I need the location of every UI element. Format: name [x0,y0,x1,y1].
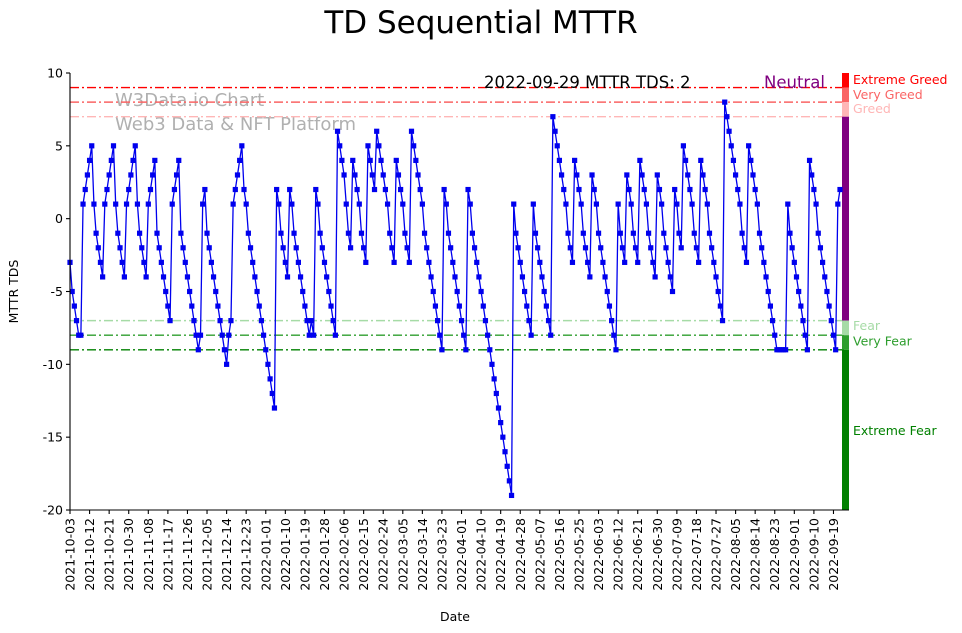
data-point [396,172,401,177]
data-point [687,187,692,192]
data-point [598,245,603,250]
data-point [694,245,699,250]
data-point [291,231,296,236]
data-point [689,202,694,207]
x-tick-label: 2022-04-28 [513,518,528,591]
data-point [585,260,590,265]
data-point [787,231,792,236]
data-point [455,289,460,294]
y-tick-label: -15 [43,430,63,445]
data-point [272,405,277,410]
data-point [794,274,799,279]
data-point [496,405,501,410]
data-point [485,333,490,338]
data-point [813,202,818,207]
zone-label-very-greed: Very Greed [853,87,923,102]
data-point [755,202,760,207]
chart-container: TD Sequential MTTR W3Data.io ChartWeb3 D… [0,0,962,633]
x-tick-label: 2022-08-05 [728,518,743,591]
data-point [270,391,275,396]
zone-bar-greed [842,102,849,117]
data-point [720,318,725,323]
x-tick-label: 2022-03-14 [415,518,430,591]
data-point [102,202,107,207]
x-tick-label: 2021-11-08 [141,518,156,591]
data-point [676,231,681,236]
data-point [566,231,571,236]
data-point [326,289,331,294]
x-tick-label: 2022-02-15 [356,518,371,591]
data-point [187,289,192,294]
data-point [80,202,85,207]
data-point [165,303,170,308]
data-point [355,187,360,192]
y-tick-label: 10 [47,66,63,81]
data-point [422,231,427,236]
data-point [579,202,584,207]
data-point [244,202,249,207]
data-point [183,260,188,265]
data-point [233,187,238,192]
data-point [224,362,229,367]
data-point [616,202,621,207]
data-point [670,289,675,294]
data-point [241,187,246,192]
data-point [365,143,370,148]
data-point [400,202,405,207]
data-point [661,231,666,236]
data-point [341,172,346,177]
data-point [100,274,105,279]
data-point [746,143,751,148]
data-point [465,187,470,192]
data-point [535,245,540,250]
data-point [413,158,418,163]
data-point [154,231,159,236]
data-point [181,245,186,250]
data-point [483,318,488,323]
data-point [281,245,286,250]
data-point [207,245,212,250]
data-point [790,245,795,250]
x-tick-label: 2022-04-19 [493,518,508,591]
data-point [602,274,607,279]
data-point [568,245,573,250]
data-point [620,245,625,250]
data-point [563,202,568,207]
data-point [829,318,834,323]
data-point [542,289,547,294]
data-point [378,158,383,163]
data-point [461,333,466,338]
data-point [798,303,803,308]
data-point [526,318,531,323]
data-point [546,318,551,323]
data-point [816,231,821,236]
data-point [235,172,240,177]
data-point [707,231,712,236]
data-point [141,260,146,265]
data-point [644,202,649,207]
data-point [263,347,268,352]
data-point [161,274,166,279]
data-point [246,231,251,236]
data-point [520,274,525,279]
data-point [818,245,823,250]
data-point [383,187,388,192]
data-point [89,143,94,148]
data-point [827,303,832,308]
data-point [592,187,597,192]
data-point [91,202,96,207]
y-axis-title: MTTR TDS [6,260,21,324]
data-point [137,231,142,236]
data-point [807,158,812,163]
data-point [361,245,366,250]
data-point [820,260,825,265]
x-tick-label: 2022-07-09 [669,518,684,591]
data-point [494,391,499,396]
data-point [463,347,468,352]
data-point [115,231,120,236]
data-point [220,333,225,338]
data-point [703,187,708,192]
x-tick-label: 2022-09-19 [826,518,841,591]
data-point [550,114,555,119]
data-point [600,260,605,265]
data-point [387,231,392,236]
data-point [189,303,194,308]
data-point [285,274,290,279]
data-point [372,187,377,192]
data-point [174,172,179,177]
data-point [548,333,553,338]
x-tick-label: 2022-02-24 [376,518,391,591]
y-tick-label: -10 [43,357,63,372]
data-point [252,274,257,279]
x-tick-label: 2022-03-23 [434,518,449,591]
data-point [300,289,305,294]
data-point [402,231,407,236]
data-point [646,231,651,236]
data-point [104,187,109,192]
data-point [222,347,227,352]
data-point [87,158,92,163]
data-point [552,129,557,134]
data-point [626,187,631,192]
data-point [570,260,575,265]
data-point [502,449,507,454]
x-tick-label: 2021-12-14 [219,518,234,591]
data-point [796,289,801,294]
data-point [407,260,412,265]
x-tick-label: 2022-05-07 [532,518,547,591]
data-point [507,478,512,483]
data-point [498,420,503,425]
data-point [533,231,538,236]
data-point [74,318,79,323]
data-point [448,245,453,250]
data-point [492,376,497,381]
data-point [122,274,127,279]
data-point [442,187,447,192]
data-point [130,158,135,163]
data-point [472,245,477,250]
data-point [111,143,116,148]
data-point [716,289,721,294]
data-point [666,260,671,265]
data-point [344,202,349,207]
data-point [611,333,616,338]
data-point [742,245,747,250]
data-point [561,187,566,192]
data-point [479,289,484,294]
x-tick-label: 2022-07-27 [709,518,724,591]
data-point [107,172,112,177]
data-point [78,333,83,338]
data-point [368,158,373,163]
data-point [663,245,668,250]
data-series-line [70,102,840,495]
data-point [607,303,612,308]
zone-label-extreme-greed: Extreme Greed [853,72,947,87]
data-point [339,158,344,163]
data-point [635,260,640,265]
annotation-value-text: 2022-09-29 MTTR TDS: 2 [484,73,691,92]
data-point [470,231,475,236]
data-point [170,202,175,207]
data-point [770,318,775,323]
data-point [476,274,481,279]
data-point [457,303,462,308]
data-point [254,289,259,294]
data-point [522,289,527,294]
data-point [596,231,601,236]
data-point [204,231,209,236]
data-point [740,231,745,236]
data-point [261,333,266,338]
data-point [753,187,758,192]
data-point [653,274,658,279]
x-tick-label: 2022-09-10 [806,518,821,591]
data-point [613,347,618,352]
data-point [178,231,183,236]
data-point [759,245,764,250]
data-point [363,260,368,265]
data-point [574,172,579,177]
data-point [639,172,644,177]
data-point [420,202,425,207]
data-point [529,333,534,338]
data-point [659,202,664,207]
x-tick-label: 2022-08-14 [748,518,763,591]
x-tick-label: 2021-11-26 [180,518,195,591]
data-point [748,158,753,163]
data-point [374,129,379,134]
data-point [555,143,560,148]
x-tick-label: 2022-05-25 [571,518,586,591]
data-point [505,464,510,469]
data-point [96,245,101,250]
zone-label-extreme-fear: Extreme Fear [853,423,937,438]
data-point [209,260,214,265]
zone-label-greed: Greed [853,101,891,116]
data-point [655,172,660,177]
data-point [202,187,207,192]
data-point [733,172,738,177]
data-point [459,318,464,323]
data-point [133,143,138,148]
data-point [120,260,125,265]
data-point [322,260,327,265]
data-point [763,274,768,279]
data-point [629,202,634,207]
data-point [389,245,394,250]
data-point [268,376,273,381]
data-point [298,274,303,279]
data-point [394,158,399,163]
x-tick-label: 2022-09-01 [787,518,802,591]
data-point [381,172,386,177]
data-point [500,435,505,440]
data-point [405,245,410,250]
data-point [335,129,340,134]
data-point [320,245,325,250]
data-point [622,260,627,265]
data-point [824,289,829,294]
data-point [650,260,655,265]
data-point [113,202,118,207]
data-point [511,202,516,207]
data-point [631,231,636,236]
data-point [674,202,679,207]
data-point [72,303,77,308]
x-tick-label: 2021-10-03 [63,518,78,591]
data-point [594,202,599,207]
data-point [283,260,288,265]
x-tick-label: 2021-12-23 [239,518,254,591]
data-point [328,303,333,308]
data-point [489,362,494,367]
data-series-markers [67,100,842,499]
data-point [159,260,164,265]
data-point [318,231,323,236]
data-point [426,260,431,265]
data-point [139,245,144,250]
data-point [228,318,233,323]
data-point [811,187,816,192]
data-point [315,202,320,207]
data-point [757,231,762,236]
data-point [718,303,723,308]
data-point [692,231,697,236]
x-axis-title: Date [440,609,470,624]
data-point [439,347,444,352]
y-tick-label: 5 [55,138,63,153]
data-point [729,143,734,148]
data-point [822,274,827,279]
watermark-line1: W3Data.io Chart [115,90,264,111]
data-point [370,172,375,177]
data-point [487,347,492,352]
data-point [257,303,262,308]
data-point [683,158,688,163]
data-point [711,260,716,265]
data-point [428,274,433,279]
data-point [167,318,172,323]
data-point [376,143,381,148]
zone-bar-very-fear [842,335,849,350]
data-point [418,187,423,192]
data-point [324,274,329,279]
data-point [144,274,149,279]
data-point [350,158,355,163]
data-point [357,202,362,207]
data-point [248,245,253,250]
data-point [215,303,220,308]
data-point [737,202,742,207]
x-tick-label: 2021-10-30 [121,518,136,591]
data-point [198,333,203,338]
data-point [200,202,205,207]
data-point [783,347,788,352]
data-point [148,187,153,192]
data-point [735,187,740,192]
data-point [176,158,181,163]
x-tick-label: 2021-10-12 [82,518,97,591]
data-point [452,274,457,279]
data-point [311,333,316,338]
data-point [346,231,351,236]
x-tick-label: 2022-02-06 [337,518,352,591]
data-point [731,158,736,163]
chart-plot-area[interactable]: W3Data.io ChartWeb3 Data & NFT PlatformE… [0,0,962,633]
zone-bar-neutral [842,117,849,321]
data-point [583,245,588,250]
zone-bar-very-greed [842,88,849,103]
data-point [446,231,451,236]
data-point [302,303,307,308]
data-point [589,172,594,177]
data-point [296,260,301,265]
data-point [309,318,314,323]
data-point [513,231,518,236]
data-point [837,187,842,192]
data-point [333,333,338,338]
data-point [163,289,168,294]
data-point [278,231,283,236]
data-point [287,187,292,192]
data-point [152,158,157,163]
data-point [539,274,544,279]
data-point [633,245,638,250]
data-point [531,202,536,207]
data-point [481,303,486,308]
data-point [800,318,805,323]
x-tick-label: 2022-06-12 [611,518,626,591]
data-point [524,303,529,308]
data-point [276,202,281,207]
y-tick-label: -20 [43,503,63,518]
annotation-state-text: Neutral [764,73,825,92]
x-tick-label: 2022-01-01 [258,518,273,591]
x-tick-label: 2022-08-23 [767,518,782,591]
data-point [576,187,581,192]
x-tick-label: 2021-10-21 [102,518,117,591]
data-point [766,289,771,294]
data-point [685,172,690,177]
zone-bar-fear [842,321,849,336]
